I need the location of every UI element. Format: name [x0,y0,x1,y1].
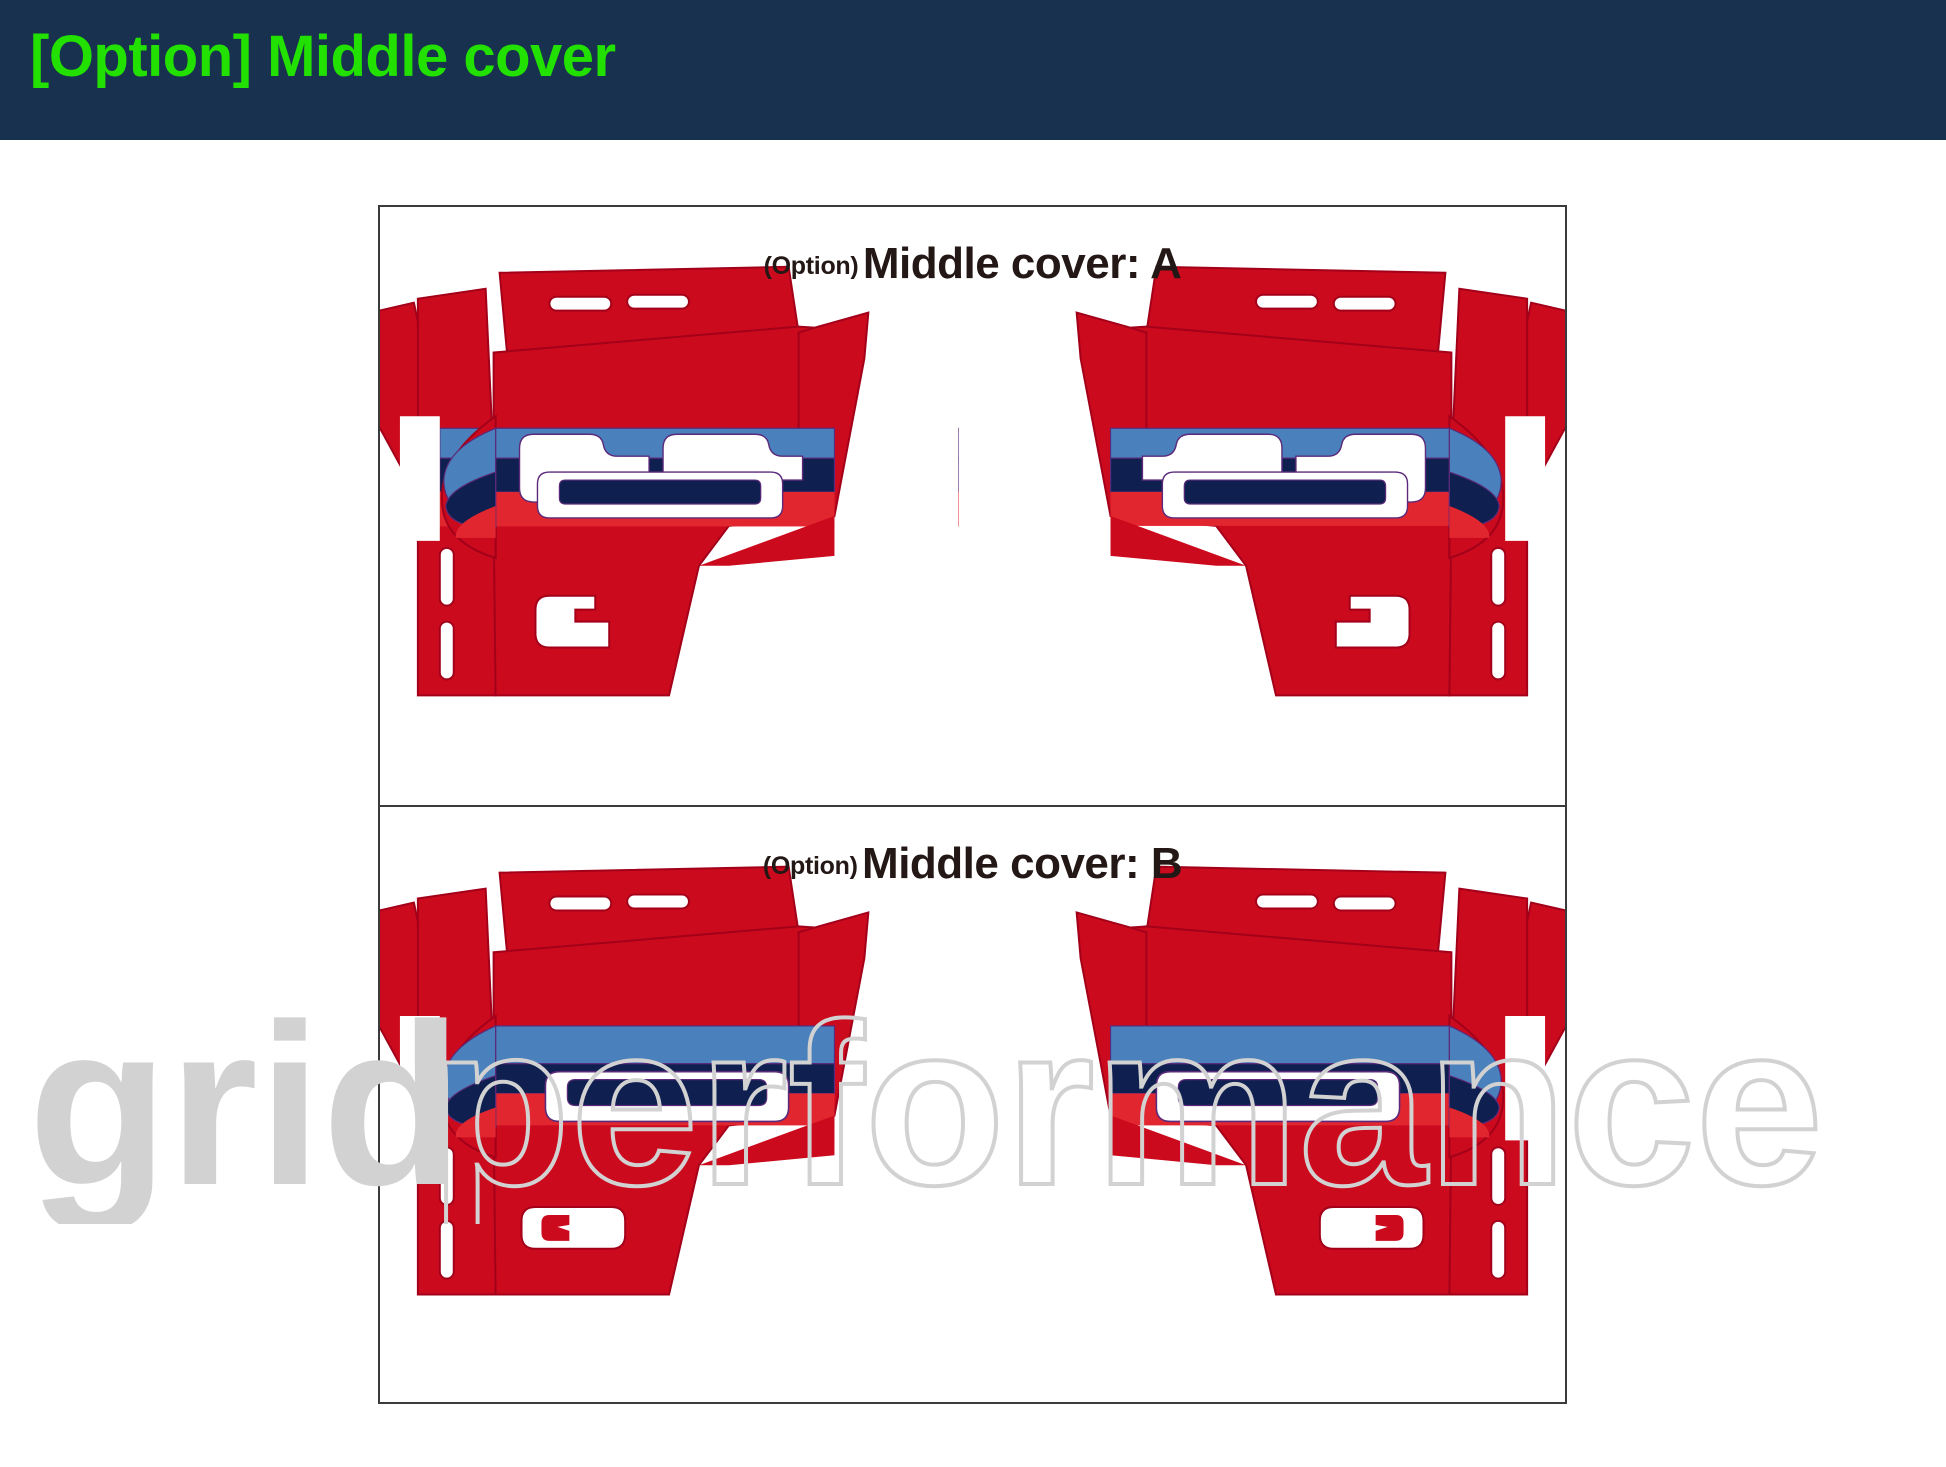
middle-cover-a-drawing [380,207,1565,805]
panel-a-title: (Option) Middle cover: A [380,239,1565,289]
panel-b-artwork [380,807,1565,1404]
diagram-frame: (Option) Middle cover: A [378,205,1567,1404]
cover-a-right-half [987,267,1565,696]
panel-a-option-prefix: (Option) [764,252,859,280]
middle-cover-b-drawing [380,807,1565,1404]
panel-b-title: (Option) Middle cover: B [380,839,1565,889]
panel-b-title-text: Middle cover: B [862,839,1182,888]
slide-canvas: [Option] Middle cover (Option) Middle co… [0,0,1946,1467]
page-title: [Option] Middle cover [30,23,616,90]
panel-middle-cover-b: (Option) Middle cover: B [380,807,1565,1404]
cover-a-left-half [380,267,958,696]
cover-b-right-half [987,867,1565,1295]
panel-a-artwork [380,207,1565,805]
panel-middle-cover-a: (Option) Middle cover: A [380,207,1565,807]
panel-a-title-text: Middle cover: A [863,239,1181,288]
cover-b-left-half [380,867,958,1295]
slide-header-bar: [Option] Middle cover [0,0,1946,140]
cover-b-left-slot [545,1072,788,1122]
panel-b-option-prefix: (Option) [763,852,858,880]
